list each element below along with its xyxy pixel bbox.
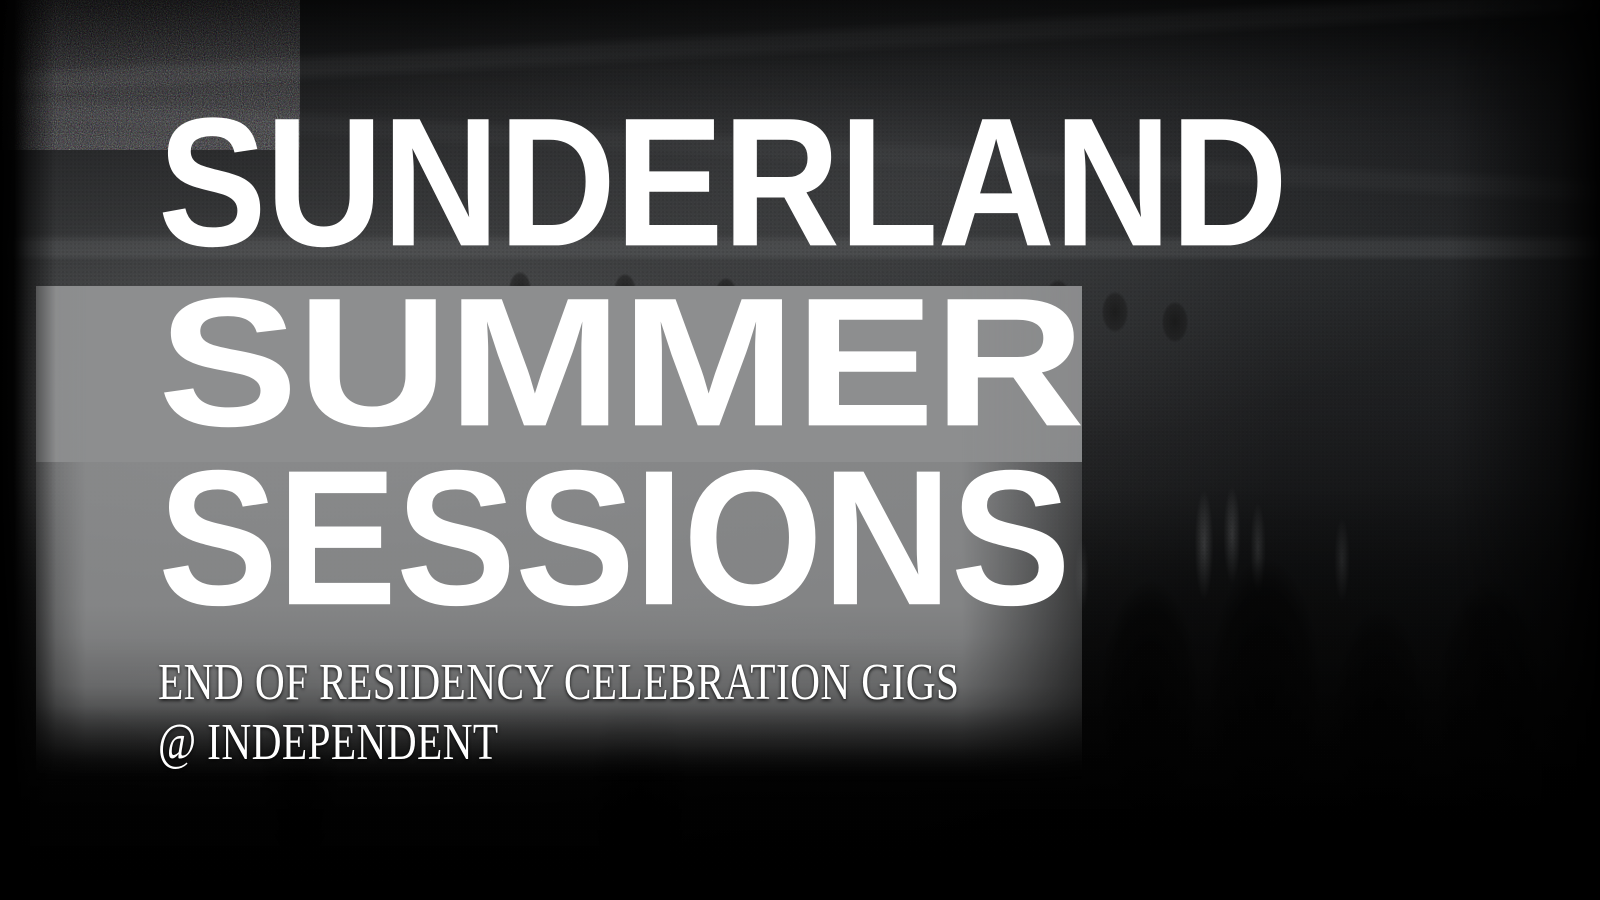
subtitle-line-venue: @ INDEPENDENT (158, 712, 499, 772)
subtitle-line-celebration-gigs: END OF RESIDENCY CELEBRATION GIGS (158, 652, 959, 712)
headline-line-sessions: SESSIONS (158, 464, 1070, 614)
headline-line-summer: SUMMER (158, 292, 1084, 435)
headline-line-sunderland: SUNDERLAND (158, 112, 1287, 255)
poster-text-block: SUNDERLAND SUMMER SESSIONS END OF RESIDE… (0, 0, 1600, 900)
event-poster: SUNDERLAND SUMMER SESSIONS END OF RESIDE… (0, 0, 1600, 900)
